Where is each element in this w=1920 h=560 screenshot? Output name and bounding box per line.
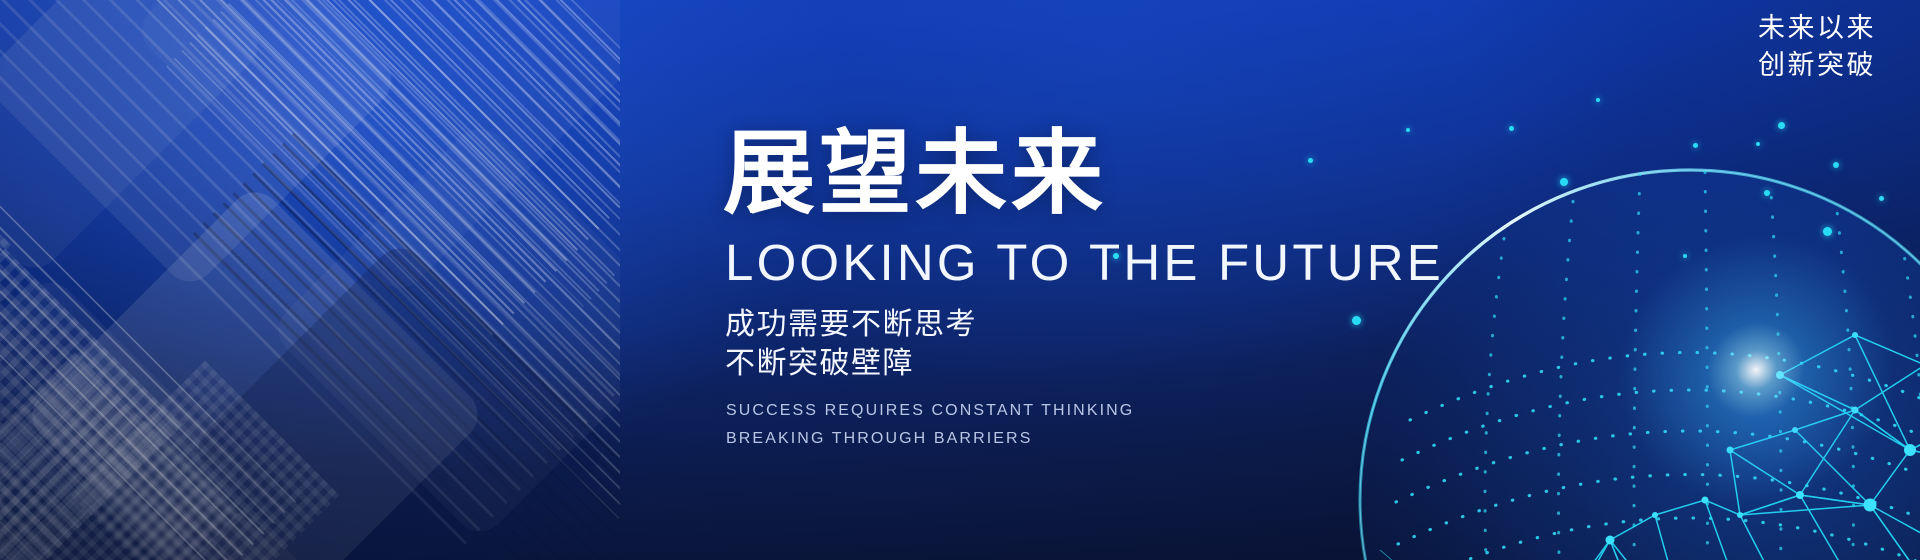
- headline-block: 展望未来 LOOKING TO THE FUTURE 成功需要不断思考 不断突破…: [723, 128, 1503, 453]
- subtitle-en-line1: SUCCESS REQUIRES CONSTANT THINKING: [726, 397, 1503, 425]
- subtitle-en: SUCCESS REQUIRES CONSTANT THINKING BREAK…: [726, 397, 1503, 453]
- subtitle-cn: 成功需要不断思考 不断突破壁障: [725, 305, 1503, 383]
- subtitle-en-line2: BREAKING THROUGH BARRIERS: [726, 425, 1503, 453]
- banner-root: 展望未来 LOOKING TO THE FUTURE 成功需要不断思考 不断突破…: [0, 0, 1920, 560]
- corner-slogan: 未来以来 创新突破: [1758, 10, 1876, 83]
- corner-slogan-line2: 创新突破: [1758, 47, 1876, 84]
- left-geometric-pattern: [0, 0, 620, 560]
- subtitle-cn-line2: 不断突破壁障: [725, 344, 1503, 383]
- subtitle-cn-line1: 成功需要不断思考: [725, 305, 1503, 344]
- corner-slogan-line1: 未来以来: [1758, 10, 1876, 47]
- page-title-en: LOOKING TO THE FUTURE: [725, 236, 1503, 289]
- horizon-light-flare: [1541, 158, 1920, 560]
- page-title-cn: 展望未来: [723, 128, 1503, 222]
